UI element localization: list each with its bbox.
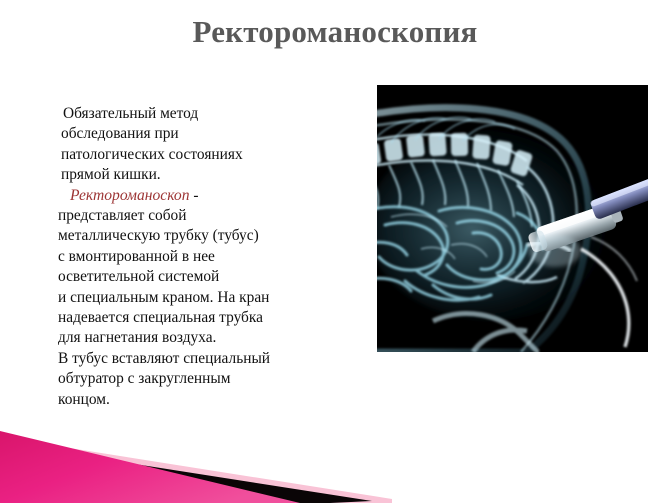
text-line: осветительной системой	[58, 267, 363, 287]
term-rectoscope: Ректороманоскоп	[70, 187, 190, 204]
text-line: и специальным краном. На кран	[58, 288, 363, 308]
light-pink-stripe	[0, 437, 392, 503]
text-line: обследования при	[61, 124, 363, 144]
text-line: металлическую трубку (тубус)	[58, 226, 363, 246]
magenta-wedge	[0, 431, 300, 503]
body-text-block: Обязательный метод обследования при пато…	[58, 104, 363, 410]
text-line: с вмонтированной в нее	[58, 247, 363, 267]
page-title: Ректороманоскопия	[0, 14, 670, 50]
text-line: Обязательный метод	[63, 104, 363, 124]
black-stripe	[0, 443, 372, 503]
paragraph-intro: Обязательный метод обследования при пато…	[58, 104, 363, 186]
paragraph-obturator: В тубус вставляют специальный обтуратор …	[58, 349, 363, 410]
slide-root: Ректороманоскопия Обязательный метод обс…	[0, 0, 670, 503]
text-line: В тубус вставляют специальный	[58, 349, 363, 369]
term-dash: -	[190, 187, 199, 204]
text-line: прямой кишки.	[61, 165, 363, 185]
text-line: патологических состояниях	[61, 145, 363, 165]
text-line: для нагнетания воздуха.	[58, 328, 363, 348]
paragraph-definition: Ректороманоскоп - представляет собой мет…	[58, 186, 363, 349]
text-line: надевается специальная трубка	[58, 308, 363, 328]
term-line: Ректороманоскоп -	[70, 186, 363, 206]
xray-rectoscopy-image	[377, 85, 648, 352]
text-line: представляет собой	[58, 206, 363, 226]
text-line: концом.	[58, 390, 363, 410]
text-line: обтуратор с закругленным	[58, 369, 363, 389]
